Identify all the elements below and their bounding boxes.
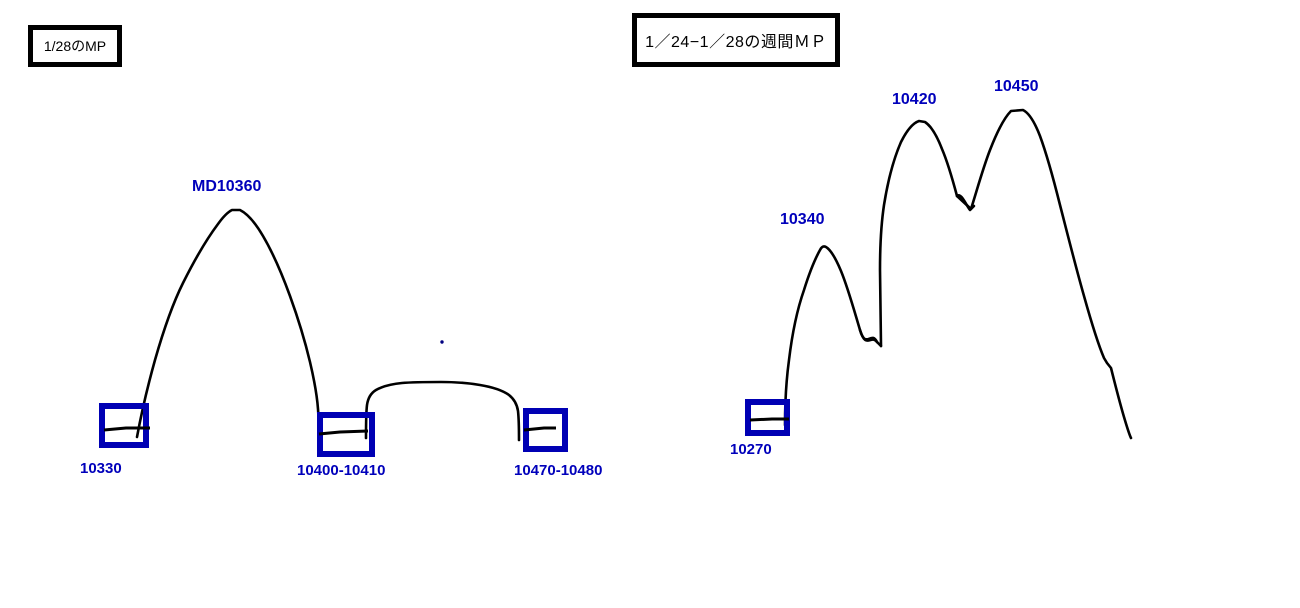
- right-curve-peak-10450: [971, 110, 1131, 438]
- stray-ink-dot: [440, 340, 443, 343]
- right-zone-label-10270: 10270: [730, 442, 772, 457]
- left-value-box-10400-10410: [320, 415, 372, 454]
- right-value-box-10270-tick: [750, 419, 789, 420]
- right-peak-label-10340: 10340: [780, 212, 825, 228]
- left-chart-title-box: 1/28のMP: [28, 25, 122, 67]
- right-peak-label-10420: 10420: [892, 92, 937, 108]
- right-value-box-10270: [748, 402, 787, 433]
- right-curve-valley-2: [957, 196, 974, 209]
- right-curve-peak-10420: [880, 121, 970, 346]
- left-chart-group: [102, 210, 565, 454]
- left-value-box-10400-10410-tick: [319, 431, 368, 434]
- right-chart-group: [748, 110, 1131, 438]
- left-main-distribution-curve: [137, 210, 319, 440]
- right-chart-title-text: 1／24−1／28の週間ＭＰ: [645, 28, 827, 52]
- right-peak-label-10450: 10450: [994, 79, 1039, 95]
- left-zone-label-10400-10410: 10400-10410: [297, 463, 385, 478]
- right-curve-peak-10340: [785, 246, 877, 425]
- left-zone-label-10470-10480: 10470-10480: [514, 463, 602, 478]
- right-chart-title-box: 1／24−1／28の週間ＭＰ: [632, 13, 840, 67]
- left-value-box-10330: [102, 406, 146, 445]
- left-value-box-10470-10480: [526, 411, 565, 449]
- left-secondary-plateau-curve: [366, 382, 519, 440]
- left-value-box-10330-tick: [104, 428, 150, 430]
- left-chart-title-text: 1/28のMP: [44, 36, 106, 56]
- profile-curves-svg: [0, 0, 1300, 608]
- drawing-canvas: 1/28のMP 1／24−1／28の週間ＭＰ: [0, 0, 1300, 608]
- right-curve-valley-1: [860, 330, 881, 346]
- left-peak-label-md10360: MD10360: [192, 179, 261, 195]
- left-zone-label-10330: 10330: [80, 461, 122, 476]
- left-value-box-10470-10480-tick: [524, 428, 556, 430]
